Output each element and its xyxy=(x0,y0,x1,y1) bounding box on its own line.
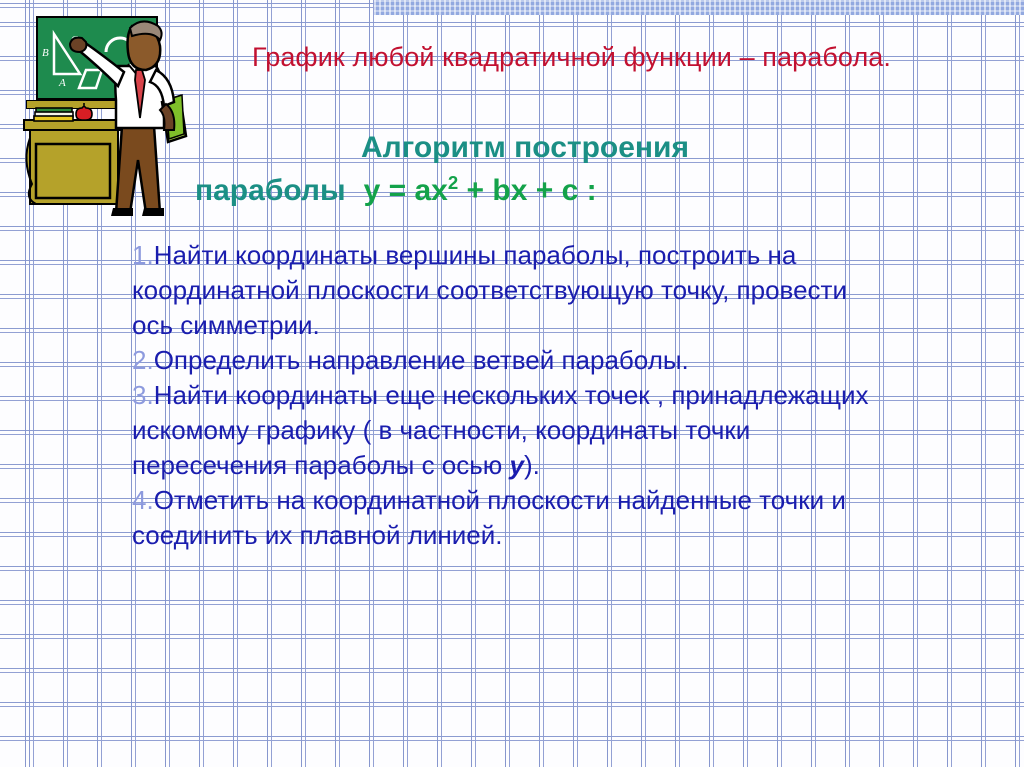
algorithm-heading-line2: параболыy = ax2 + bx + c : xyxy=(145,169,905,212)
quadratic-formula: y = ax2 + bx + c : xyxy=(364,174,597,207)
step-number: 3. xyxy=(132,380,154,410)
formula-suffix: + bx + c : xyxy=(458,174,596,207)
axis-variable-y: y xyxy=(510,450,524,480)
step-number: 2. xyxy=(132,345,154,375)
list-item: 4.Отметить на координатной плоскости най… xyxy=(132,483,892,553)
board-label-b: B xyxy=(42,47,49,59)
formula-prefix: y = ax xyxy=(364,174,448,207)
slide-root: B C A xyxy=(0,0,1024,767)
step-text: Отметить на координатной плоскости найде… xyxy=(132,485,846,550)
step-text: Найти координаты вершины параболы, постр… xyxy=(132,240,847,340)
formula-exponent: 2 xyxy=(448,172,458,193)
algorithm-heading: Алгоритм построения параболыy = ax2 + bx… xyxy=(145,126,905,212)
step-text-after: ). xyxy=(524,450,540,480)
top-banner-strip xyxy=(374,0,1024,15)
board-label-a: A xyxy=(58,77,66,89)
list-item: 3.Найти координаты еще нескольких точек … xyxy=(132,378,892,483)
step-text: Определить направление ветвей параболы. xyxy=(154,345,689,375)
step-text-before: Найти координаты еще нескольких точек , … xyxy=(132,380,868,480)
step-number: 4. xyxy=(132,485,154,515)
page-title-red: График любой квадратичной функции – пара… xyxy=(252,38,952,77)
step-number: 1. xyxy=(132,240,154,270)
algorithm-steps-list: 1.Найти координаты вершины параболы, пос… xyxy=(132,238,892,553)
parabola-word: параболы xyxy=(195,174,346,207)
list-item: 1.Найти координаты вершины параболы, пос… xyxy=(132,238,892,343)
algorithm-heading-line1: Алгоритм построения xyxy=(361,131,689,164)
list-item: 2.Определить направление ветвей параболы… xyxy=(132,343,892,378)
